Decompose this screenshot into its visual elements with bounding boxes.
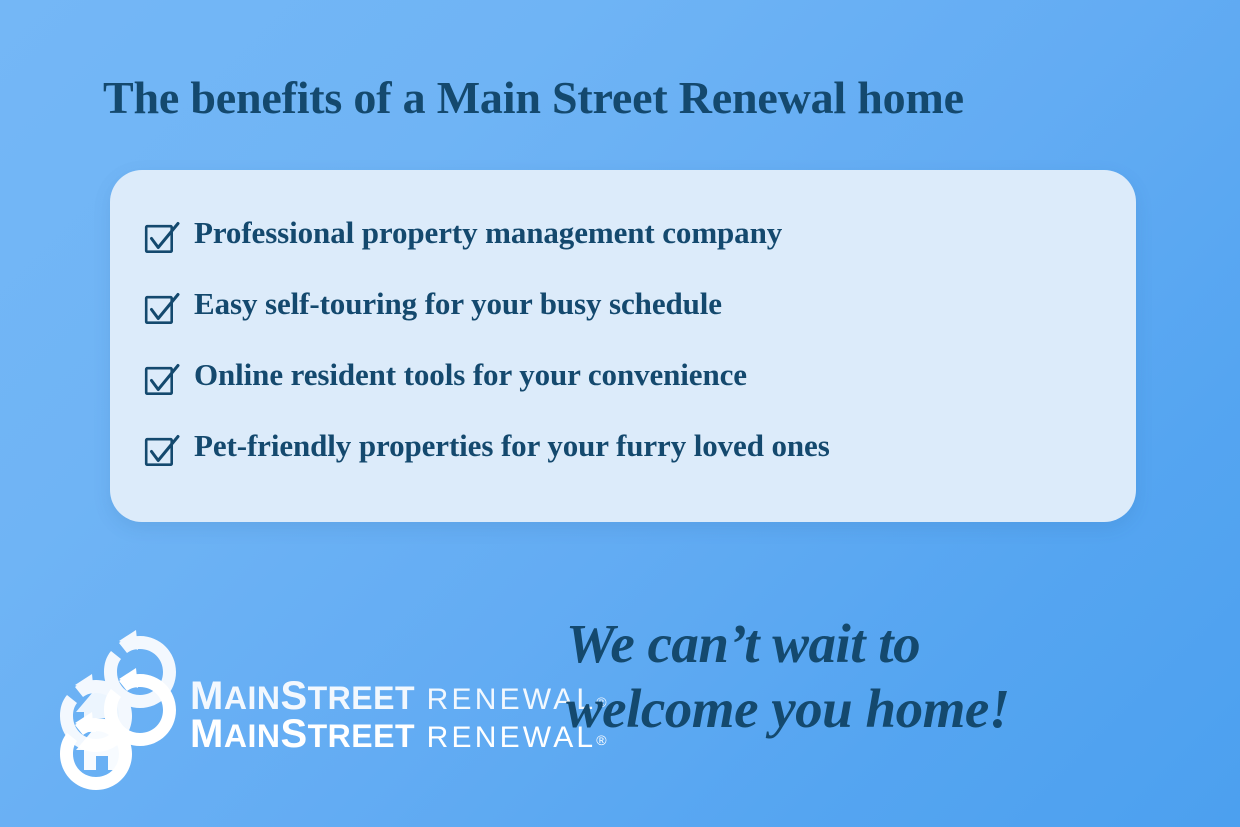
- wordmark-s: S: [280, 712, 307, 756]
- brand-logo-wordmark: MAINSTREET RENEWAL®: [190, 710, 607, 754]
- list-item: Online resident tools for your convenien…: [144, 358, 1096, 429]
- checked-checkbox-icon: [144, 293, 180, 327]
- wordmark-m: M: [190, 712, 224, 756]
- page-title: The benefits of a Main Street Renewal ho…: [103, 74, 964, 122]
- list-item-label: Pet-friendly properties for your furry l…: [194, 429, 830, 464]
- checked-checkbox-icon: [144, 364, 180, 398]
- tagline: We can’t wait to welcome you home!: [566, 612, 1186, 742]
- tagline-line-1: We can’t wait to: [566, 612, 1186, 677]
- wordmark-treet: TREET: [308, 718, 415, 754]
- checked-checkbox-icon: [144, 435, 180, 469]
- interlocking-circular-arrows-icon: [52, 666, 184, 798]
- list-item-label: Online resident tools for your convenien…: [194, 358, 747, 393]
- wordmark-ain: AIN: [224, 718, 281, 754]
- benefits-card: Professional property management company…: [110, 170, 1136, 522]
- list-item-label: Easy self-touring for your busy schedule: [194, 287, 722, 322]
- tagline-line-2: welcome you home!: [566, 677, 1186, 742]
- checked-checkbox-icon: [144, 222, 180, 256]
- brand-logo-front-copy: MAINSTREET RENEWAL®: [52, 666, 492, 798]
- list-item: Professional property management company: [144, 216, 1096, 287]
- list-item: Easy self-touring for your busy schedule: [144, 287, 1096, 358]
- list-item: Pet-friendly properties for your furry l…: [144, 429, 1096, 500]
- brand-logo: MAINSTREET RENEWAL® MAINSTREET: [52, 628, 492, 798]
- list-item-label: Professional property management company: [194, 216, 782, 251]
